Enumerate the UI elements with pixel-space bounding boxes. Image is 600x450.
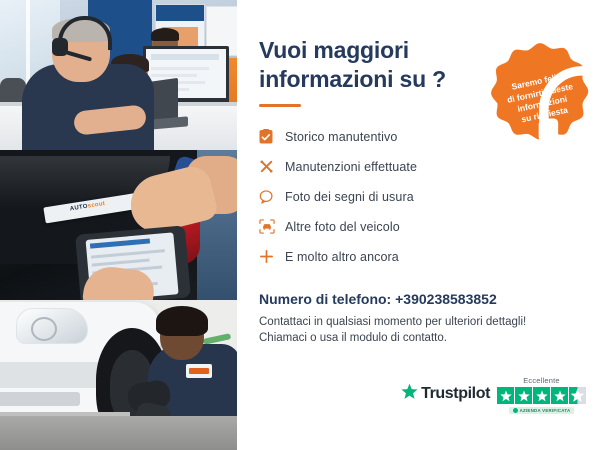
contact-note: Contattaci in qualsiasi momento per ulte…: [259, 314, 580, 347]
verified-check-icon: [513, 408, 518, 413]
content-panel: Vuoi maggiori informazioni su ? Saremo f…: [237, 0, 600, 450]
clipboard-check-icon: [259, 129, 285, 144]
headline-line-2: informazioni su ?: [259, 66, 446, 92]
tool-brand-label: AUTOscout: [69, 201, 105, 212]
front-grille-decor: [0, 362, 104, 388]
uniform-logo-decor: [186, 364, 212, 378]
vehicle-info-promo-banner: AUTOscout: [0, 0, 600, 450]
verified-label: AZIENDA VERIFICATA: [520, 408, 571, 413]
rating-star: [515, 387, 532, 404]
tools-cross-icon: [259, 159, 285, 174]
speech-bubble-icon: [259, 190, 285, 204]
list-item: Altre foto del veicolo: [259, 213, 580, 241]
background-agent-hair-decor: [151, 28, 179, 41]
feature-label: Foto dei segni di usura: [285, 190, 414, 204]
trustpilot-rating-block: Eccellente: [497, 376, 586, 414]
rating-star: [551, 387, 568, 404]
feature-label: Storico manutentivo: [285, 130, 397, 144]
trustpilot-widget[interactable]: Trustpilot Eccellente: [401, 376, 586, 414]
on-request-info-badge: Saremo felici di fornirti queste informa…: [488, 41, 592, 145]
verified-company-badge: AZIENDA VERIFICATA: [509, 407, 575, 414]
car-scan-frame-icon: [259, 219, 285, 234]
trustpilot-rating-label: Eccellente: [523, 376, 560, 385]
car-body-measurement-photo: AUTOscout: [0, 150, 237, 300]
contact-note-line-2: Chiamaci o usa il modulo di contatto.: [259, 332, 447, 344]
phone-label: Numero di telefono:: [259, 291, 391, 307]
list-item: E molto altro ancora: [259, 243, 580, 271]
call-center-agents-photo: [0, 0, 237, 150]
feature-label: Altre foto del veicolo: [285, 220, 400, 234]
headline-line-1: Vuoi maggiori: [259, 37, 409, 63]
trustpilot-name: Trustpilot: [421, 385, 490, 403]
feature-label: E molto altro ancora: [285, 250, 399, 264]
rating-star: [497, 387, 514, 404]
title-underline-divider: [259, 104, 301, 107]
list-item: Foto dei segni di usura: [259, 183, 580, 211]
trustpilot-stars: [497, 387, 586, 404]
phone-number[interactable]: +390238583852: [395, 291, 497, 307]
mechanic-wheel-inspection-photo: [0, 300, 237, 450]
photo-column: AUTOscout: [0, 0, 237, 450]
feature-label: Manutenzioni effettuate: [285, 160, 417, 174]
page-title: Vuoi maggiori informazioni su ?: [259, 36, 474, 94]
rating-star-half: [569, 387, 586, 404]
trustpilot-star-icon: [401, 383, 418, 405]
contact-note-line-1: Contattaci in qualsiasi momento per ulte…: [259, 316, 526, 328]
vehicle-lift-decor: [0, 416, 237, 450]
plus-icon: [259, 249, 285, 264]
phone-number-line: Numero di telefono: +390238583852: [259, 291, 580, 307]
rating-star: [533, 387, 550, 404]
headlight-decor: [16, 308, 88, 344]
trustpilot-brand: Trustpilot: [401, 383, 490, 414]
